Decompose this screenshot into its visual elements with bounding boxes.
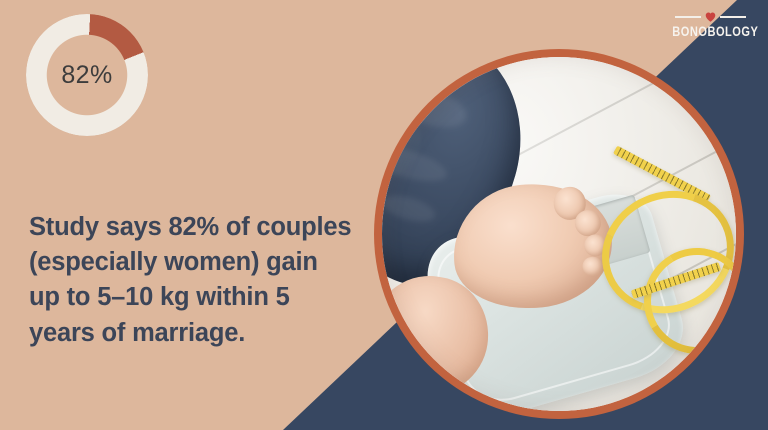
photo-circle-image: 88 <box>382 57 736 411</box>
headline-text: Study says 82% of couples (especially wo… <box>29 210 359 351</box>
donut-chart: 82% <box>26 14 148 136</box>
logo-wordmark: BONOBOLOGY <box>672 24 747 39</box>
logo-rule-right <box>720 16 746 18</box>
headline-line-3: up to 5–10 kg within 5 <box>29 280 359 315</box>
donut-center-label: 82% <box>26 14 148 136</box>
poster-canvas: 82% Study says 82% of couples (especiall… <box>0 0 768 430</box>
headline-line-2: (especially women) gain <box>29 245 359 280</box>
headline-line-1: Study says 82% of couples <box>29 210 359 245</box>
photo-scene: 88 <box>382 57 736 411</box>
logo-heart-row <box>664 11 756 23</box>
brand-logo[interactable]: BONOBOLOGY <box>664 11 756 39</box>
heart-icon <box>705 12 716 22</box>
headline-line-4: years of marriage. <box>29 316 359 351</box>
photo-circle-frame: 88 <box>374 49 744 419</box>
logo-rule-left <box>675 16 701 18</box>
